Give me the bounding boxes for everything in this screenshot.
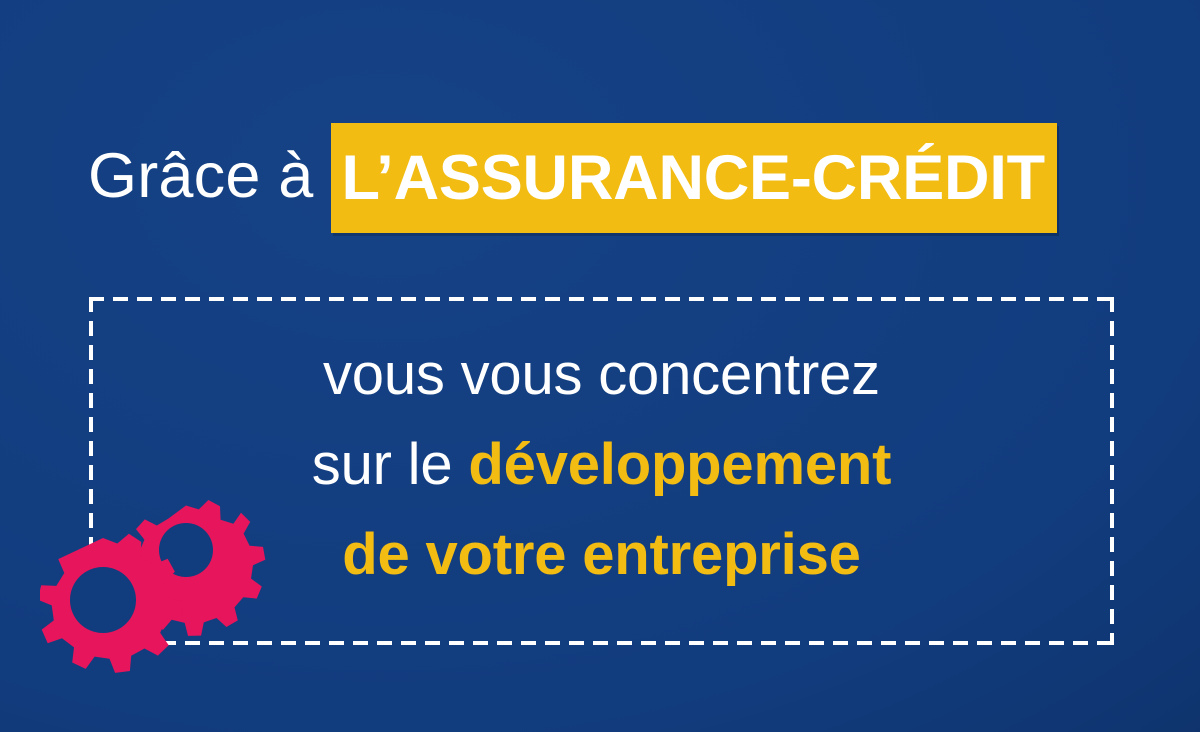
- body-copy-line-2: sur ledéveloppement: [89, 420, 1114, 510]
- headline-plain-text: Grâce à: [88, 145, 331, 208]
- dashed-frame-top-edge: [89, 297, 1114, 301]
- headline-highlight-badge: L’ASSURANCE-CRÉDIT: [331, 123, 1057, 233]
- body-copy-line-2-white: sur le: [312, 432, 453, 497]
- headline: Grâce à L’ASSURANCE-CRÉDIT: [88, 123, 1057, 233]
- dashed-frame-bottom-edge: [89, 641, 1114, 645]
- body-copy-line-3: de votre entreprise: [89, 510, 1114, 600]
- body-copy: vous vous concentrez sur ledéveloppement…: [89, 330, 1114, 600]
- slide-canvas: Grâce à L’ASSURANCE-CRÉDIT vous vous con…: [0, 0, 1200, 732]
- body-copy-line-2-yellow: développement: [468, 432, 891, 497]
- body-copy-line-3-yellow: de votre entreprise: [342, 522, 860, 587]
- body-copy-line-1-text: vous vous concentrez: [323, 342, 880, 407]
- body-copy-line-1: vous vous concentrez: [89, 330, 1114, 420]
